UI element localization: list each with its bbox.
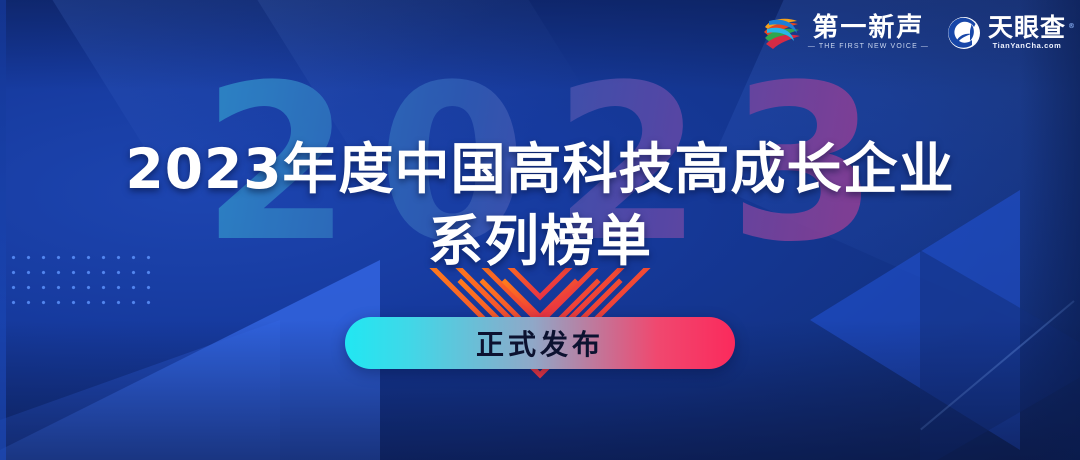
bottom-left-triangle-facet xyxy=(0,260,380,460)
trademark-symbol: ® xyxy=(1068,13,1075,39)
title-line-1: 2023年度中国高科技高成长企业 xyxy=(125,137,954,201)
first-new-voice-text: 第一新声 — THE FIRST NEW VOICE — xyxy=(808,14,929,52)
tianyancha-name: 天眼查® xyxy=(988,15,1066,41)
right-triangle-facet-2 xyxy=(920,250,1080,460)
tianyancha-name-text: 天眼查 xyxy=(988,13,1066,42)
promo-banner: 2023 2023年度中国高科技高成长企业 系列榜单 正式发布 xyxy=(0,0,1080,460)
release-status-label: 正式发布 xyxy=(476,323,604,363)
title-line-2: 系列榜单 xyxy=(0,205,1080,277)
first-new-voice-tagline: — THE FIRST NEW VOICE — xyxy=(808,42,929,52)
tianyancha-domain: TianYanCha.com xyxy=(993,41,1062,51)
release-status-badge[interactable]: 正式发布 xyxy=(345,317,735,369)
first-new-voice-name: 第一新声 xyxy=(812,14,924,42)
page-title: 2023年度中国高科技高成长企业 系列榜单 xyxy=(0,133,1080,277)
tianyancha-text: 天眼查® TianYanCha.com xyxy=(988,15,1066,51)
partner-logos: 第一新声 — THE FIRST NEW VOICE — 天眼查® TianYa… xyxy=(761,14,1066,52)
bottom-left-triangle-facet-2 xyxy=(0,320,280,460)
logo-first-new-voice[interactable]: 第一新声 — THE FIRST NEW VOICE — xyxy=(761,14,929,52)
tianyancha-lens-icon xyxy=(947,16,981,50)
first-new-voice-swoosh-icon xyxy=(761,15,801,51)
logo-tianyancha[interactable]: 天眼查® TianYanCha.com xyxy=(947,15,1066,51)
right-thin-diagonal-line xyxy=(920,300,1074,430)
